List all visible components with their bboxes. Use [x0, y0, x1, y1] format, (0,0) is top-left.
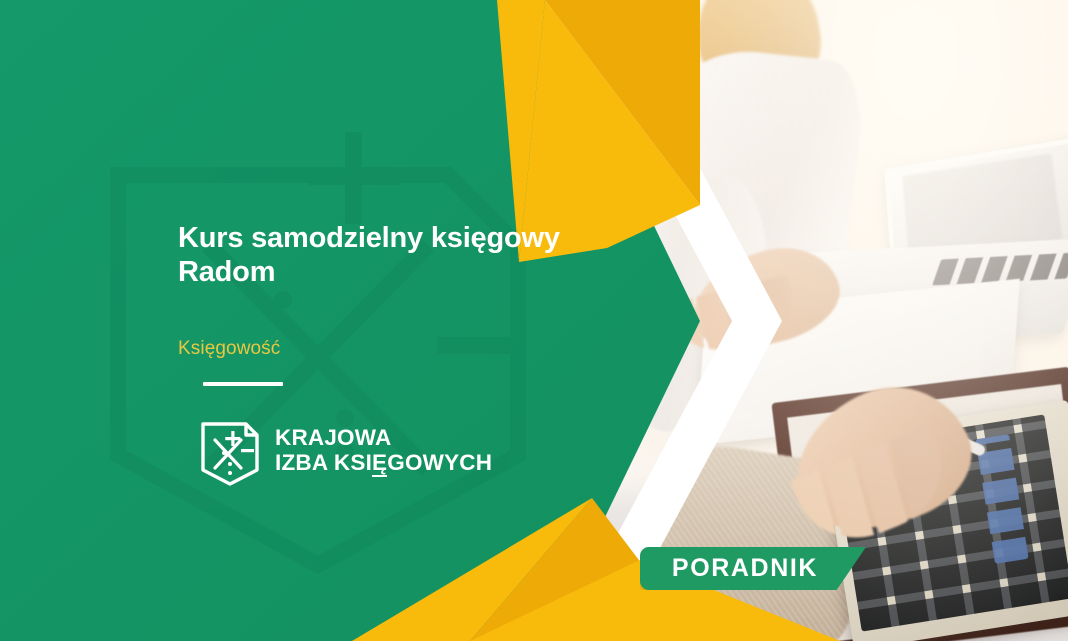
poradnik-badge[interactable]: PORADNIK: [640, 547, 866, 590]
banner-content: Kurs samodzielny księgowy Radom Księgowo…: [0, 0, 600, 641]
brand-logo-line2-underlined: Ę: [372, 450, 387, 477]
page-title: Kurs samodzielny księgowy Radom: [178, 222, 608, 290]
course-banner: Kurs samodzielny księgowy Radom Księgowo…: [0, 0, 1068, 641]
brand-logo[interactable]: KRAJOWA IZBA KSIĘGOWYCH: [199, 412, 492, 488]
brand-logo-line2: IZBA KSIĘGOWYCH: [275, 450, 492, 475]
brand-logo-line2-after: GOWYCH: [387, 450, 492, 475]
brand-logo-line2-before: IZBA KSI: [275, 450, 372, 475]
poradnik-badge-label: PORADNIK: [672, 554, 818, 583]
brand-logo-line1: KRAJOWA: [275, 425, 492, 450]
divider: [203, 382, 283, 386]
category-label: Księgowość: [178, 338, 280, 360]
shield-calculator-icon: [199, 412, 261, 488]
brand-logo-text: KRAJOWA IZBA KSIĘGOWYCH: [275, 425, 492, 475]
